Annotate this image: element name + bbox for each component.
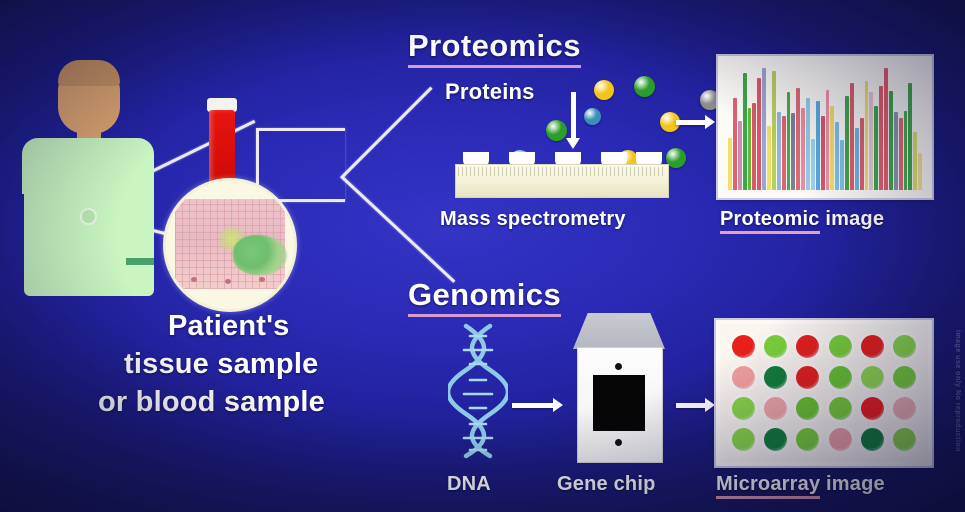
- proteomic-image-label-plain: image: [820, 208, 885, 230]
- chart-bar: [894, 112, 898, 190]
- chart-bar: [860, 118, 864, 190]
- microarray-spot: [861, 366, 884, 389]
- plate-surface-texture: [458, 167, 664, 176]
- microarray-image-label-plain: image: [820, 473, 885, 495]
- microarray-spot-cell: [727, 362, 759, 393]
- chart-bar: [748, 108, 752, 190]
- chart-bar: [782, 116, 786, 190]
- dna-label: DNA: [447, 473, 491, 496]
- microarray-spot-grid: [727, 331, 921, 455]
- chart-bar: [762, 68, 766, 190]
- branch-title-genomics-text: Genomics: [408, 277, 561, 317]
- patient-caption-line1: Patient's: [168, 310, 290, 343]
- microarray-spot-cell: [889, 393, 921, 424]
- protein-molecule: [700, 90, 720, 110]
- microarray-spot-cell: [824, 331, 856, 362]
- chart-bar: [830, 106, 834, 190]
- microarray-spot-cell: [792, 393, 824, 424]
- mass-spectrometry-label: Mass spectrometry: [440, 208, 626, 231]
- microarray-spot-cell: [824, 424, 856, 455]
- chart-bar: [884, 68, 888, 190]
- chart-bar: [791, 113, 795, 190]
- chart-bar: [796, 88, 800, 190]
- protein-molecule: [634, 76, 655, 97]
- gene-chip-label-text: Gene chip: [557, 473, 656, 495]
- microarray-spot-cell: [889, 424, 921, 455]
- chart-bar: [840, 140, 844, 190]
- microarray-spot: [861, 428, 884, 451]
- tissue-sample-micrograph: [163, 178, 297, 312]
- arrow-dna-to-chip: [512, 403, 554, 408]
- chart-bar: [757, 78, 761, 190]
- diagram-canvas: Patient's tissue sample or blood sample …: [0, 0, 965, 512]
- microarray-spot: [732, 366, 755, 389]
- tissue-sample-site-marker: [80, 208, 97, 225]
- chart-bar: [811, 139, 815, 190]
- gene-chip-dot-bottom: [615, 439, 622, 446]
- microarray-spot: [829, 335, 852, 358]
- chart-bar: [899, 118, 903, 190]
- microarray-spot: [893, 335, 916, 358]
- chart-bar: [918, 153, 922, 190]
- patient-caption-line2: tissue sample: [124, 348, 318, 381]
- gene-chip: [573, 313, 665, 461]
- gene-chip-top: [573, 313, 665, 349]
- branch-title-proteomics: Proteomics: [408, 28, 581, 68]
- microarray-image-label-underlined: Microarray: [716, 473, 820, 499]
- protein-molecule: [594, 80, 614, 100]
- tissue-slide: [175, 199, 285, 289]
- branch-line-proteomics: [342, 87, 433, 178]
- branch-line-genomics: [340, 175, 455, 283]
- chart-bar: [850, 83, 854, 190]
- protein-molecule: [546, 120, 567, 141]
- microarray-spot: [796, 335, 819, 358]
- tissue-nucleus: [225, 279, 231, 284]
- ionization-arrow-down: [571, 92, 576, 140]
- chart-bar: [855, 128, 859, 190]
- chart-bar: [821, 116, 825, 190]
- proteomic-image-panel: [718, 56, 932, 198]
- chart-bar: [738, 121, 742, 190]
- chart-bar: [913, 132, 917, 190]
- protein-molecule: [584, 108, 601, 125]
- chart-bar: [772, 71, 776, 190]
- chart-bar: [816, 101, 820, 190]
- microarray-spot: [764, 335, 787, 358]
- microarray-spot-cell: [759, 331, 791, 362]
- microarray-spot: [764, 397, 787, 420]
- dna-svg: [448, 320, 508, 460]
- microarray-spot: [861, 335, 884, 358]
- protein-molecule: [666, 148, 686, 168]
- chart-bar: [767, 126, 771, 190]
- microarray-spot-cell: [727, 424, 759, 455]
- microarray-spot: [893, 397, 916, 420]
- mass-spec-sample-plate: [455, 150, 667, 196]
- chart-bar: [826, 90, 830, 190]
- proteomic-image-label-underlined: Proteomic: [720, 208, 820, 234]
- tissue-green-region: [233, 235, 287, 275]
- branch-title-proteomics-text: Proteomics: [408, 28, 581, 68]
- chart-bar: [869, 92, 873, 190]
- microarray-spot-cell: [856, 424, 888, 455]
- microarray-spot: [732, 335, 755, 358]
- microarray-spot: [764, 366, 787, 389]
- arrow-chip-to-microarray: [676, 403, 706, 408]
- chart-bar: [752, 103, 756, 190]
- dna-double-helix-icon: [448, 320, 508, 460]
- patient-figure: [18, 60, 158, 300]
- gene-chip-array-window: [593, 375, 645, 431]
- tissue-nucleus: [259, 277, 265, 282]
- chart-bar: [733, 98, 737, 190]
- gene-chip-dot-top: [615, 363, 622, 370]
- patient-sleeve-right: [122, 138, 154, 194]
- microarray-spot: [796, 366, 819, 389]
- microarray-image-panel: [716, 320, 932, 466]
- microarray-spot: [732, 397, 755, 420]
- chart-bar: [743, 73, 747, 190]
- chart-bar: [879, 86, 883, 190]
- patient-arm-band: [126, 258, 154, 265]
- microarray-spot: [829, 366, 852, 389]
- microarray-spot-cell: [759, 424, 791, 455]
- arrow-to-proteomic-image: [676, 120, 706, 125]
- microarray-spot: [829, 428, 852, 451]
- proteomic-image-label: Proteomic image: [720, 208, 884, 234]
- chart-bar: [835, 122, 839, 190]
- microarray-image-label: Microarray image: [716, 473, 885, 499]
- microarray-spot-cell: [856, 362, 888, 393]
- chart-bar: [777, 112, 781, 190]
- microarray-spot: [893, 428, 916, 451]
- patient-caption-line3: or blood sample: [98, 386, 325, 419]
- microarray-spot-cell: [824, 393, 856, 424]
- microarray-spot: [893, 366, 916, 389]
- dna-label-text: DNA: [447, 473, 491, 495]
- microarray-spot-cell: [824, 362, 856, 393]
- chart-bar: [904, 111, 908, 190]
- microarray-spot: [829, 397, 852, 420]
- microarray-spot: [796, 397, 819, 420]
- microarray-spot: [764, 428, 787, 451]
- microarray-spot-cell: [889, 331, 921, 362]
- watermark: image use only No reproduction: [954, 330, 961, 452]
- chart-bar: [806, 98, 810, 190]
- patient-hair: [58, 60, 120, 86]
- microarray-spot-cell: [792, 424, 824, 455]
- microarray-spot-cell: [792, 331, 824, 362]
- chart-bar: [845, 96, 849, 190]
- branch-title-genomics: Genomics: [408, 277, 561, 317]
- chart-bar: [865, 81, 869, 190]
- chart-bar: [801, 108, 805, 190]
- tissue-nucleus: [191, 277, 197, 282]
- chart-bar: [908, 83, 912, 190]
- microarray-spot-cell: [759, 393, 791, 424]
- microarray-spot: [796, 428, 819, 451]
- microarray-spot: [732, 428, 755, 451]
- proteomic-bar-chart: [728, 66, 922, 190]
- microarray-spot-cell: [856, 393, 888, 424]
- microarray-spot-cell: [727, 331, 759, 362]
- ionization-arrow-head: [566, 138, 580, 149]
- chart-bar: [889, 91, 893, 190]
- chart-bar: [728, 138, 732, 190]
- chart-bar: [874, 106, 878, 190]
- microarray-spot-cell: [889, 362, 921, 393]
- microarray-spot-cell: [727, 393, 759, 424]
- microarray-spot-cell: [856, 331, 888, 362]
- microarray-spot-cell: [759, 362, 791, 393]
- microarray-spot-cell: [792, 362, 824, 393]
- mass-spectrometry-label-text: Mass spectrometry: [440, 208, 626, 230]
- patient-sleeve-left: [22, 138, 54, 194]
- microarray-spot: [861, 397, 884, 420]
- gene-chip-label: Gene chip: [557, 473, 656, 496]
- chart-bar: [787, 92, 791, 190]
